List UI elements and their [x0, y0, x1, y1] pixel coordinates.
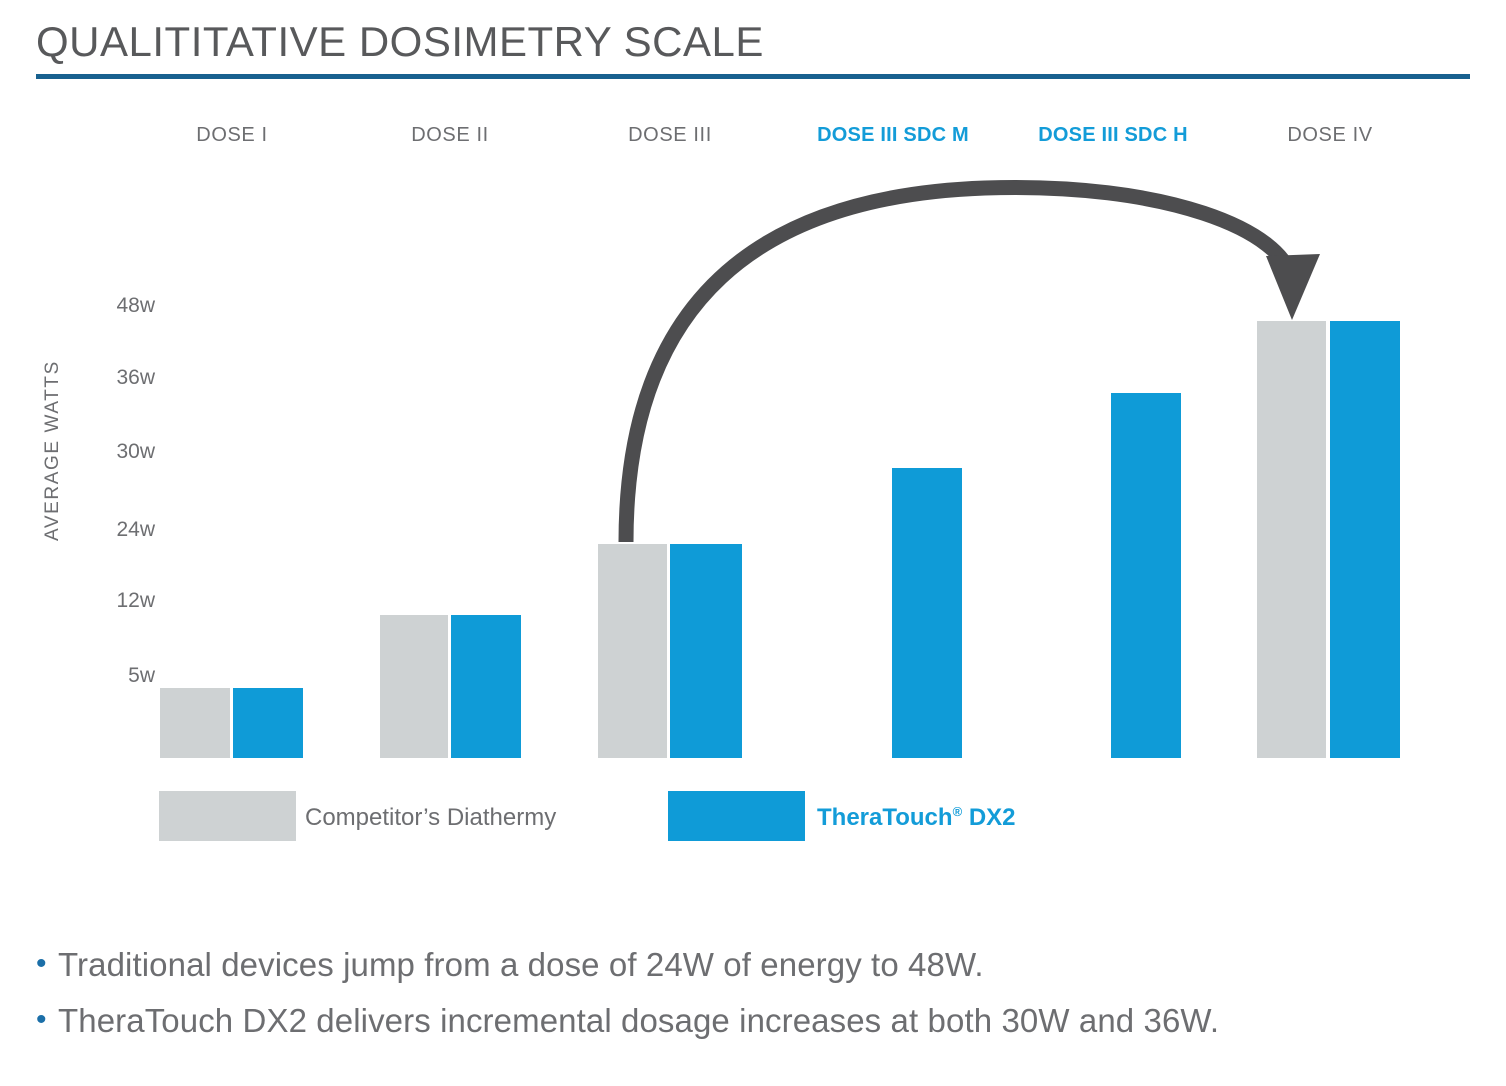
dosimetry-scale-infographic: QUALITITATIVE DOSIMETRY SCALE DOSE I DOS… — [0, 0, 1506, 1086]
legend-swatch-theratouch — [668, 791, 805, 841]
legend-label-theratouch-model: DX2 — [962, 804, 1015, 831]
bullet-text-2: TheraTouch DX2 delivers incremental dosa… — [58, 1001, 1219, 1041]
bullet-dot-icon: • — [36, 945, 58, 983]
legend-label-theratouch: TheraTouch® DX2 — [817, 804, 1016, 832]
list-item: • TheraTouch DX2 delivers incremental do… — [36, 1001, 1476, 1041]
legend-label-theratouch-name: TheraTouch — [817, 804, 953, 831]
legend-label-competitor: Competitor’s Diathermy — [305, 804, 556, 832]
legend-swatch-competitor — [159, 791, 296, 841]
list-item: • Traditional devices jump from a dose o… — [36, 945, 1476, 985]
bullet-text-1: Traditional devices jump from a dose of … — [58, 945, 984, 985]
chart-legend: Competitor’s Diathermy TheraTouch® DX2 — [0, 0, 1506, 900]
bullet-dot-icon: • — [36, 1001, 58, 1039]
registered-trademark-icon: ® — [953, 804, 963, 819]
key-points-list: • Traditional devices jump from a dose o… — [36, 945, 1476, 1057]
bar-chart: DOSE I DOSE II DOSE III DOSE III SDC M D… — [0, 0, 1506, 900]
